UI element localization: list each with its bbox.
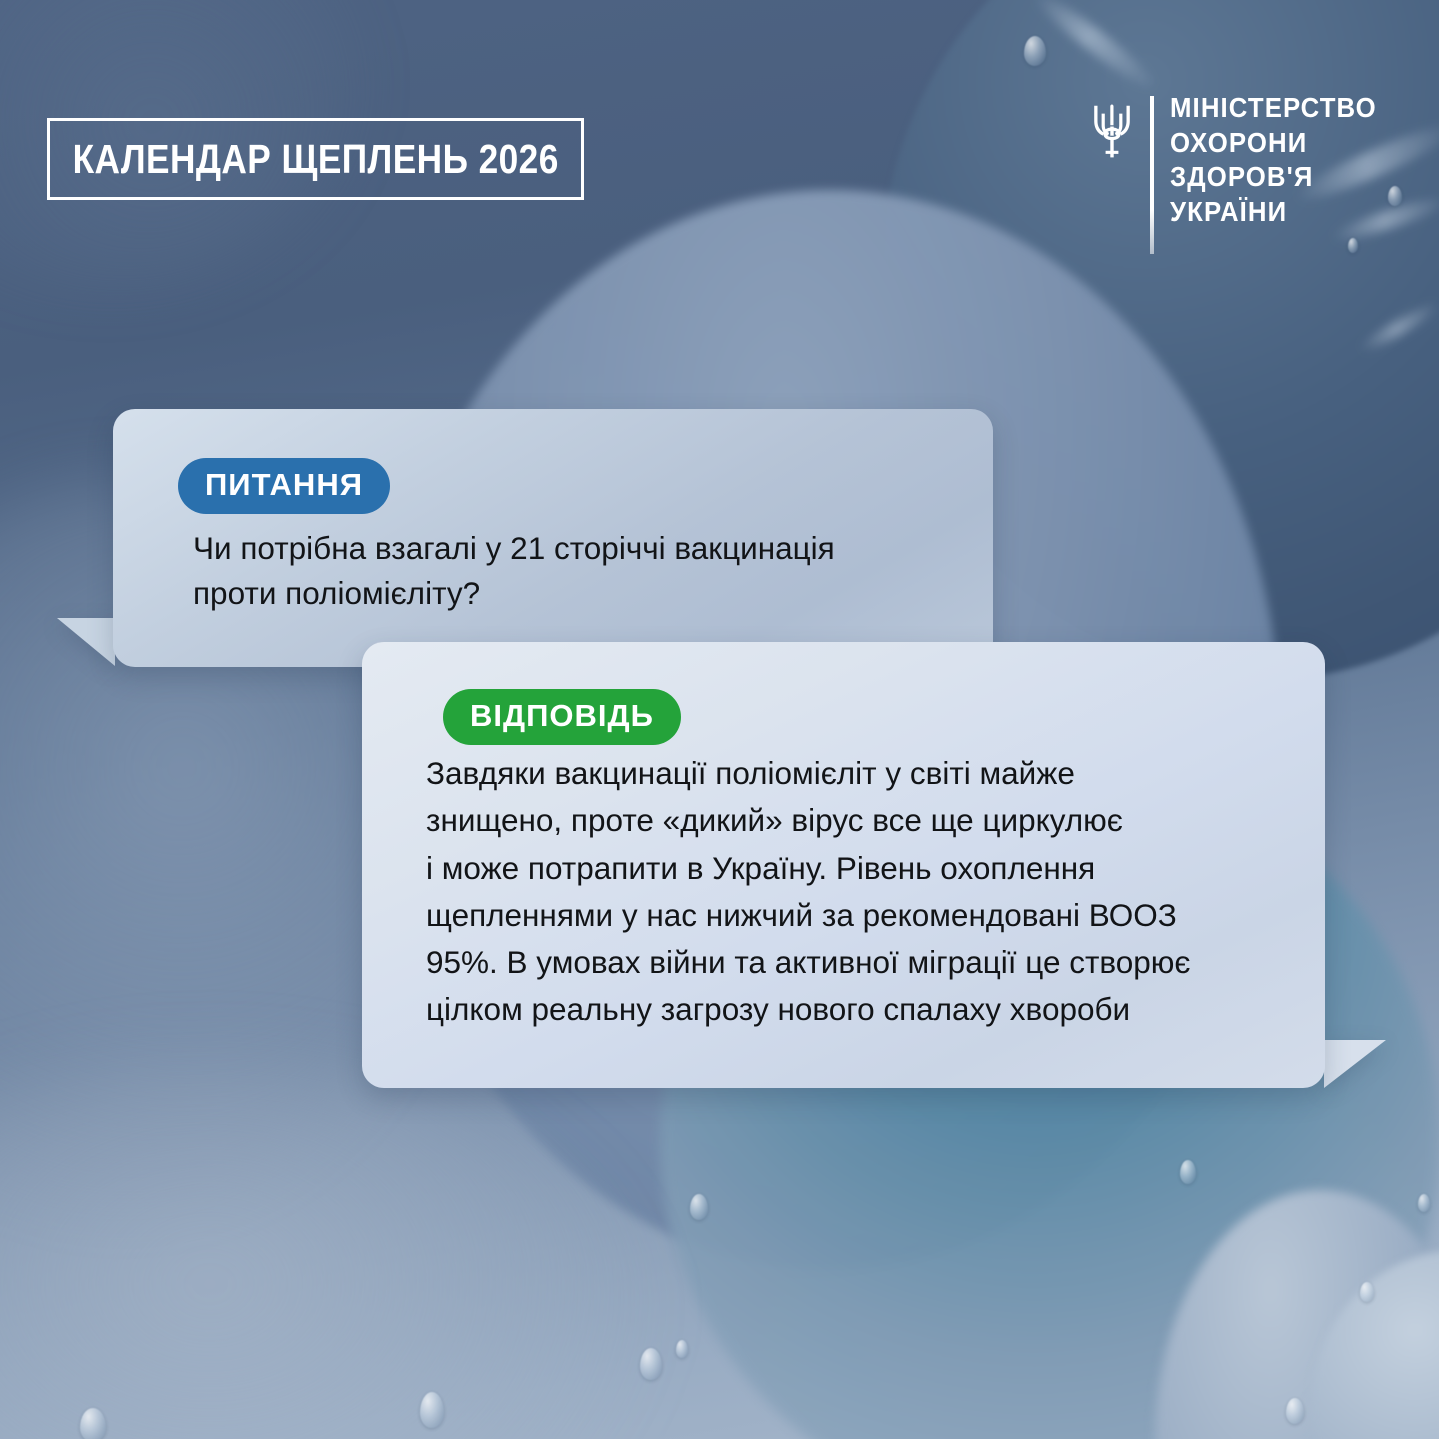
question-badge: ПИТАННЯ [178, 458, 390, 514]
background-droplet-7 [420, 1392, 444, 1428]
logo-line-1: МІНІСТЕРСТВО [1170, 94, 1377, 123]
campaign-title-box: КАЛЕНДАР ЩЕПЛЕНЬ 2026 [47, 118, 584, 200]
question-card: ПИТАННЯ Чи потрібна взагалі у 21 сторічч… [113, 409, 993, 667]
page-title: КАЛЕНДАР ЩЕПЛЕНЬ 2026 [72, 136, 558, 183]
background-droplet-1 [1024, 36, 1046, 66]
background-droplet-12 [80, 1408, 106, 1439]
logo-line-4: УКРАЇНИ [1170, 198, 1377, 227]
poster-canvas: КАЛЕНДАР ЩЕПЛЕНЬ 2026 МІНІСТЕРСТВО ОХОРО… [0, 0, 1439, 1439]
logo-wordmark: МІНІСТЕРСТВО ОХОРОНИ ЗДОРОВ'Я УКРАЇНИ [1170, 92, 1395, 226]
question-text: Чи потрібна взагалі у 21 сторіччі вакцин… [193, 526, 973, 615]
logo-line-3: ЗДОРОВ'Я [1170, 163, 1377, 192]
logo-line-2: ОХОРОНИ [1170, 129, 1377, 158]
background-droplet-9 [1360, 1282, 1374, 1302]
background-droplet-11 [1418, 1194, 1430, 1212]
background-droplet-10 [1286, 1398, 1304, 1424]
background-droplet-8 [1180, 1160, 1196, 1184]
logo-divider [1150, 96, 1154, 254]
answer-bubble-tail [1324, 1040, 1386, 1088]
background-droplet-6 [676, 1340, 688, 1358]
question-bubble-tail [57, 618, 115, 666]
answer-badge: ВІДПОВІДЬ [443, 689, 681, 745]
ukraine-trident-icon [1090, 100, 1134, 162]
background-droplet-4 [640, 1348, 662, 1380]
answer-card: ВІДПОВІДЬ Завдяки вакцинації поліомієліт… [362, 642, 1325, 1088]
background-droplet-5 [690, 1194, 708, 1220]
answer-text: Завдяки вакцинації поліомієліт у світі м… [426, 750, 1296, 1034]
ministry-logo: МІНІСТЕРСТВО ОХОРОНИ ЗДОРОВ'Я УКРАЇНИ [1090, 92, 1395, 254]
